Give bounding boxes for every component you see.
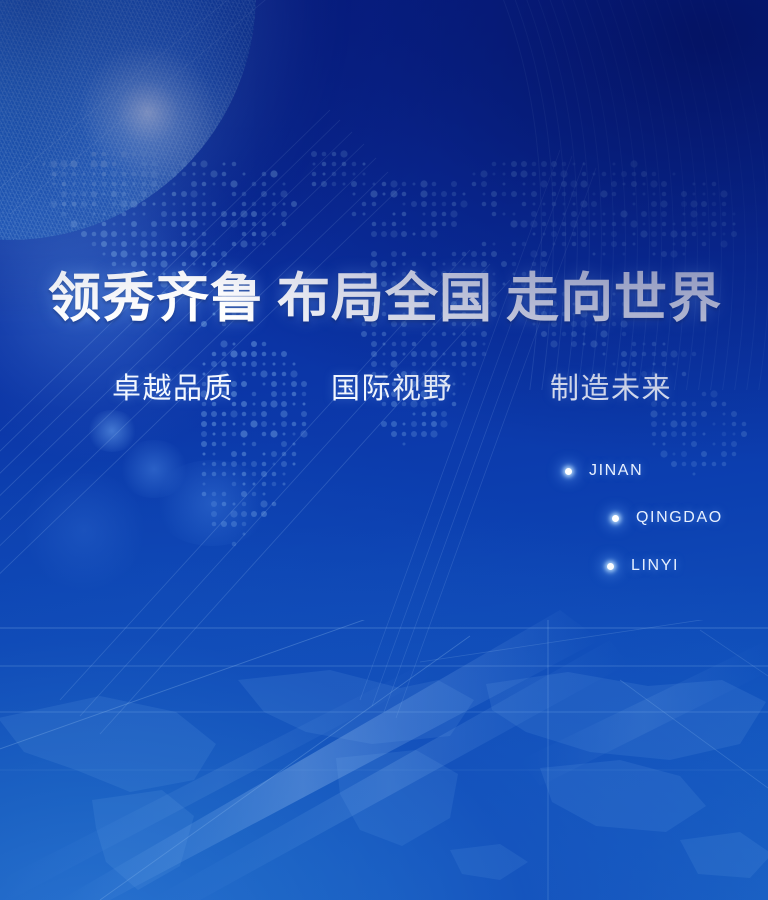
headline-segment-3: 走向世界 bbox=[506, 270, 722, 328]
city-dot-icon bbox=[565, 468, 572, 475]
subheadline-segment-2: 国际视野 bbox=[331, 372, 453, 406]
bokeh-glow bbox=[86, 410, 138, 452]
city-label: QINGDAO bbox=[636, 509, 723, 527]
city-label: LINYI bbox=[631, 557, 679, 575]
city-marker-jinan[interactable]: JINAN bbox=[565, 462, 643, 480]
subheadline: 卓越品质 国际视野 制造未来 bbox=[112, 372, 672, 406]
headline-segment-1: 领秀齐鲁 bbox=[48, 270, 264, 328]
headline: 领秀齐鲁布局全国走向世界 bbox=[48, 268, 722, 330]
banner-stage: 领秀齐鲁布局全国走向世界 卓越品质 国际视野 制造未来 JINAN QINGDA… bbox=[0, 0, 768, 900]
curved-line-bundle-graphic bbox=[0, 0, 768, 900]
bokeh-glow bbox=[118, 440, 190, 498]
subheadline-segment-1: 卓越品质 bbox=[112, 372, 234, 406]
bokeh-glow-layer bbox=[0, 0, 768, 900]
globe-texture bbox=[0, 0, 256, 240]
city-marker-qingdao[interactable]: QINGDAO bbox=[612, 509, 723, 527]
dot-matrix-map-graphic bbox=[0, 0, 768, 900]
subheadline-segment-3: 制造未来 bbox=[550, 372, 672, 406]
city-marker-linyi[interactable]: LINYI bbox=[607, 557, 679, 575]
bokeh-glow bbox=[24, 470, 144, 590]
background-vignette bbox=[0, 0, 768, 900]
globe-icon bbox=[0, 0, 256, 240]
headline-segment-2: 布局全国 bbox=[277, 270, 493, 328]
bokeh-glow bbox=[152, 460, 272, 546]
ground-world-map-graphic bbox=[0, 640, 768, 900]
city-dot-icon bbox=[607, 563, 614, 570]
globe-limb-highlight bbox=[0, 0, 256, 240]
city-dot-icon bbox=[612, 515, 619, 522]
perspective-grid-graphic bbox=[0, 0, 768, 900]
light-streak-graphic bbox=[0, 0, 768, 900]
diagonal-hairlines-graphic bbox=[0, 0, 768, 900]
city-label: JINAN bbox=[589, 462, 643, 480]
background-gradient bbox=[0, 0, 768, 900]
